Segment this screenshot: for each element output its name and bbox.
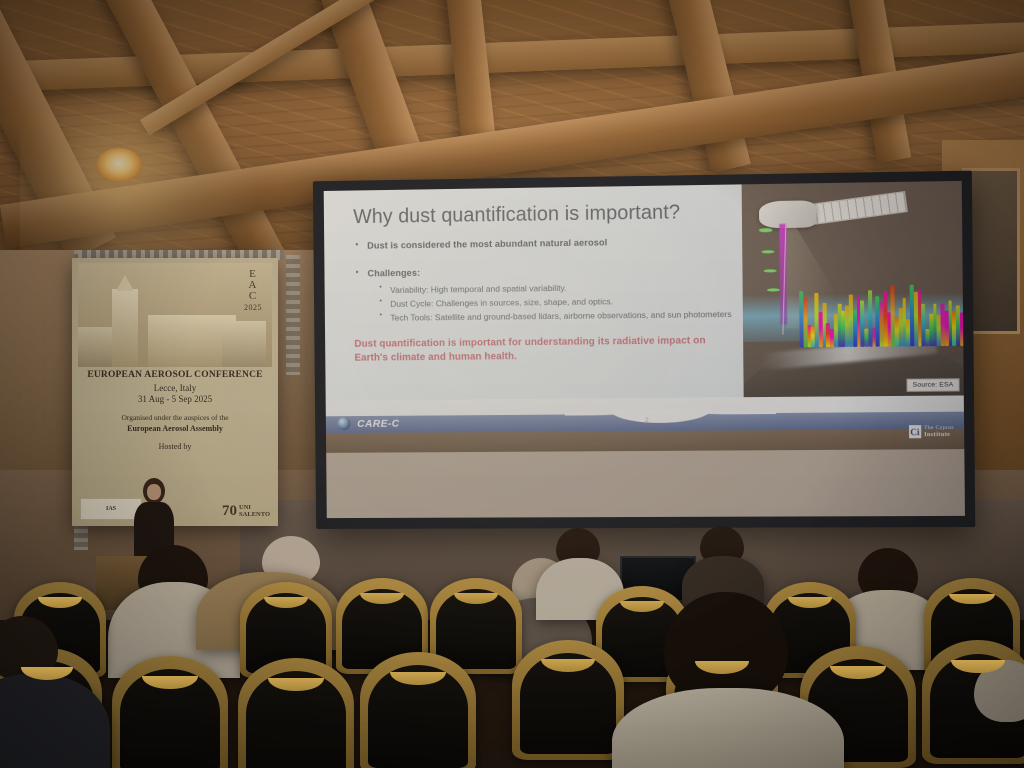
conference-room-photo: E A C 2025 EUROPEAN AEROSOL CONFERENCE L…	[0, 0, 1024, 768]
unisalento-line2: SALENTO	[239, 511, 270, 518]
satellite-solar-panel	[806, 191, 907, 225]
ias-logo: IAS	[80, 498, 142, 520]
projection-surface: Why dust quantification is important? Du…	[324, 181, 965, 518]
figure-beam-blip	[759, 229, 772, 233]
unisalento-logo: 70 UNI SALENTO	[222, 503, 270, 520]
poster-assembly: European Aerosol Assembly	[78, 424, 272, 433]
chair	[238, 658, 354, 768]
poster-city: Lecce, Italy	[78, 383, 272, 393]
figure-lidar-curtain	[799, 282, 964, 348]
slide-title: Why dust quantification is important?	[353, 201, 732, 229]
slide-figure-satellite: Source: ESA	[741, 181, 963, 397]
poster-title: EUROPEAN AEROSOL CONFERENCE	[78, 370, 272, 380]
poster-dates: 31 Aug - 5 Sep 2025	[78, 394, 272, 404]
cyprus-institute-mark: Ci	[909, 426, 921, 439]
poster-logo-row: IAS 70 UNI SALENTO	[80, 494, 270, 520]
slide-body: Why dust quantification is important? Du…	[324, 181, 964, 400]
slide-footer-org: CARE-C	[338, 417, 400, 430]
unisalento-anniversary-number: 70	[222, 503, 237, 520]
cyprus-institute-line1: The Cyprus	[924, 425, 954, 431]
poster-bell-tower	[112, 289, 138, 367]
audience-seating	[0, 520, 1024, 768]
poster-building	[222, 321, 266, 367]
poster-text-block: EUROPEAN AEROSOL CONFERENCE Lecce, Italy…	[78, 370, 272, 451]
projection-screen: Why dust quantification is important? Du…	[313, 171, 975, 529]
slide-footer-org-label: CARE-C	[357, 418, 399, 430]
figure-beam-blip	[762, 250, 775, 254]
poster-event-year: 2025	[244, 304, 262, 312]
globe-icon	[338, 417, 351, 430]
slide-sub-bullet-tech-tools: Tech Tools: Satellite and ground-based l…	[380, 308, 733, 324]
cyprus-institute-wordmark: The Cyprus Institute	[924, 426, 954, 439]
poster-truss-right	[286, 255, 300, 375]
unisalento-wordmark: UNI SALENTO	[239, 505, 270, 519]
chair	[112, 656, 228, 768]
slide-emphasis-statement: Dust quantification is important for und…	[354, 334, 733, 365]
slide-sub-bullet-list: Variability: High temporal and spatial v…	[354, 280, 733, 325]
figure-curtain-column	[960, 312, 964, 346]
figure-beam-blip	[766, 288, 779, 292]
slide-text-column: Why dust quantification is important? Du…	[324, 184, 744, 400]
chair	[512, 640, 624, 760]
poster-event-letter-c: C	[244, 291, 262, 302]
presentation-slide: Why dust quantification is important? Du…	[324, 181, 965, 453]
poster-organised-line: Organised under the auspices of the	[78, 413, 272, 422]
poster-hosted-by: Hosted by	[78, 442, 272, 451]
slide-footer: CARE-C 2 Ci The Cyprus Institute	[326, 395, 965, 452]
poster-building	[78, 327, 112, 367]
light-bulb-icon	[96, 148, 142, 182]
cyprus-institute-logo: Ci The Cyprus Institute	[909, 425, 954, 438]
poster-illustration: E A C 2025	[78, 263, 272, 367]
slide-page-number: 2	[645, 417, 649, 424]
cyprus-institute-line2: Institute	[924, 431, 954, 438]
satellite-icon	[759, 200, 816, 229]
slide-bullet-1: Dust is considered the most abundant nat…	[353, 236, 731, 251]
poster-event-mark: E A C 2025	[244, 269, 262, 312]
slide-bullet-2: Challenges:	[354, 264, 732, 279]
figure-beam-blip	[764, 269, 777, 273]
figure-curtain-column	[868, 290, 872, 347]
chair	[360, 652, 476, 768]
speaker-face	[147, 484, 161, 500]
figure-source-label: Source: ESA	[907, 378, 960, 392]
slide-sub-bullet-dust-cycle: Dust Cycle: Challenges in sources, size,…	[379, 294, 732, 310]
conference-poster: E A C 2025 EUROPEAN AEROSOL CONFERENCE L…	[72, 258, 278, 526]
